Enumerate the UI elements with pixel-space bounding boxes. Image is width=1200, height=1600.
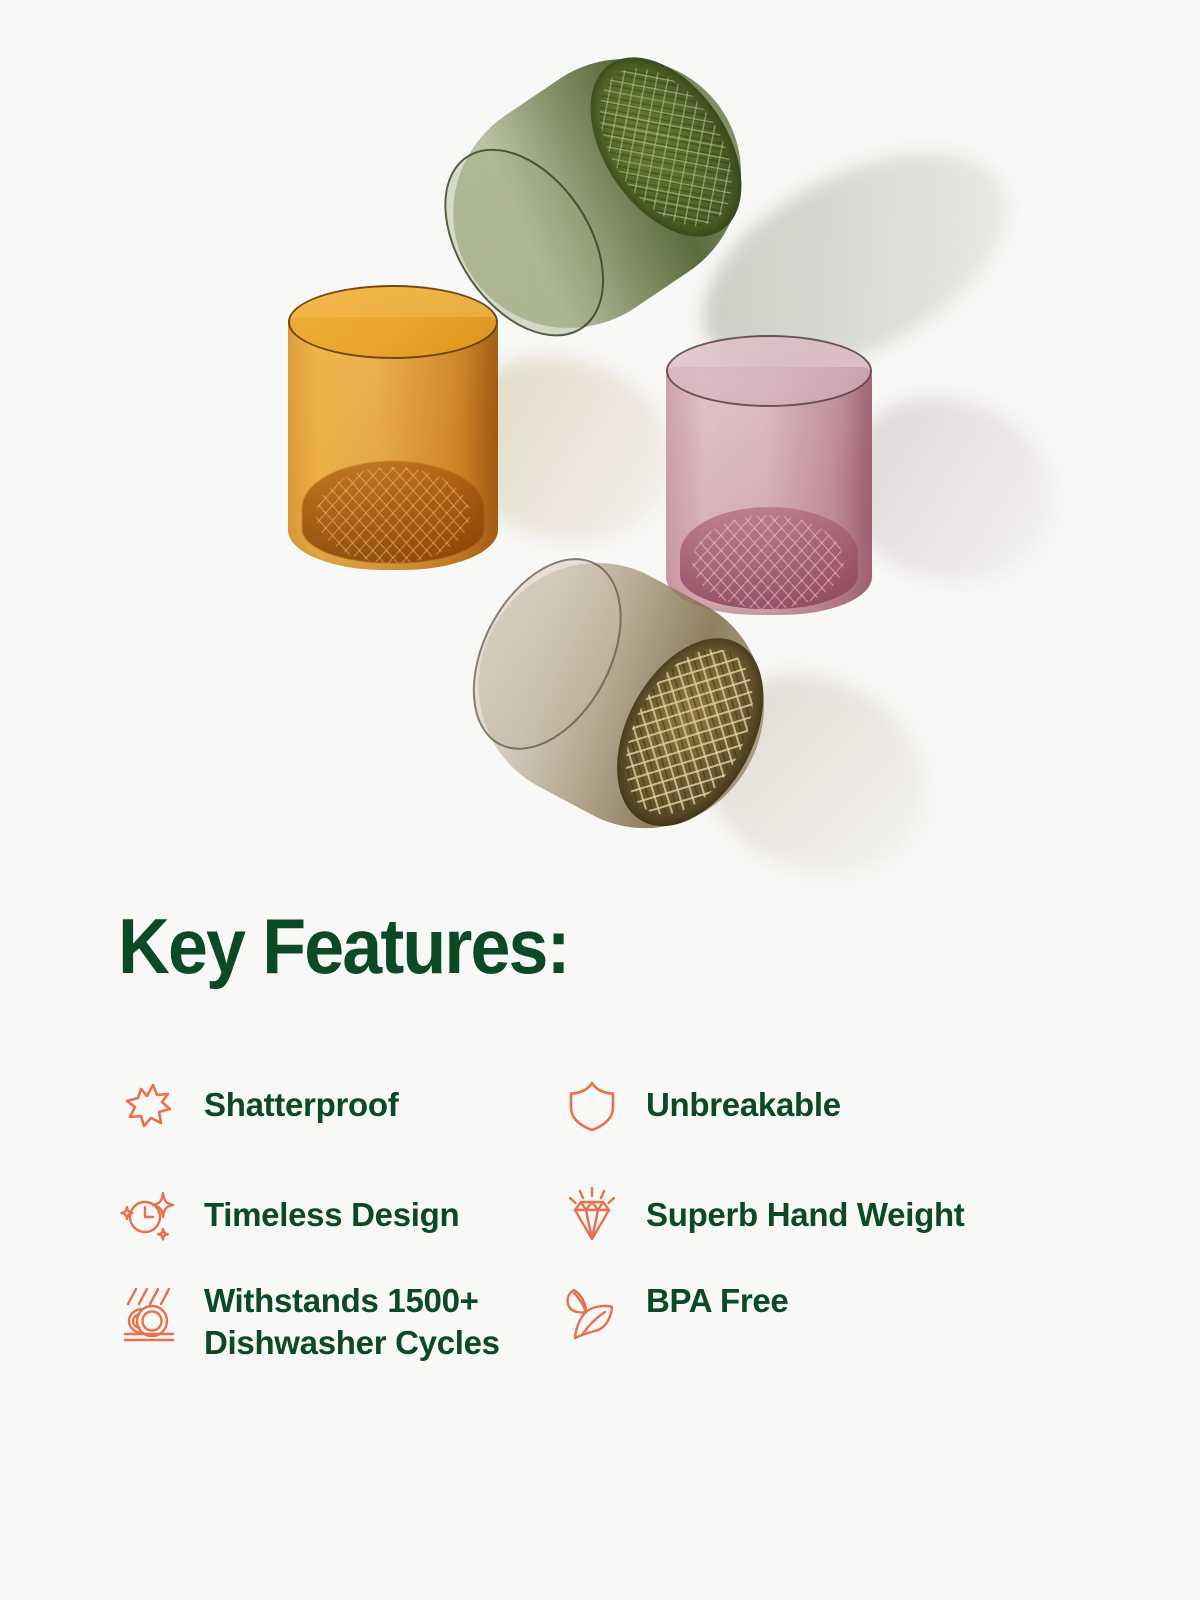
- features-grid: Shatterproof Unbreakable: [0, 1050, 1200, 1410]
- feature-row: Withstands 1500+ Dishwasher Cycles BPA F…: [0, 1270, 1200, 1410]
- feature-label: Unbreakable: [646, 1084, 841, 1126]
- feature-label: Superb Hand Weight: [646, 1194, 965, 1236]
- feature-row: Shatterproof Unbreakable: [0, 1050, 1200, 1160]
- pink-tumbler-rim: [666, 335, 872, 407]
- amber-tumbler-rim: [288, 285, 498, 359]
- clock-sparkle-icon: [118, 1183, 182, 1247]
- burst-icon: [118, 1073, 182, 1137]
- shield-icon: [560, 1073, 624, 1137]
- feature-label: Withstands 1500+ Dishwasher Cycles: [204, 1280, 500, 1363]
- feature-label: Timeless Design: [204, 1194, 459, 1236]
- feature-item-bpa-free: BPA Free: [545, 1270, 1100, 1346]
- pink-tumbler: [666, 335, 872, 615]
- diamond-icon: [560, 1183, 624, 1247]
- feature-item-unbreakable: Unbreakable: [545, 1050, 1100, 1160]
- feature-label: Shatterproof: [204, 1084, 398, 1126]
- dishwasher-icon: [118, 1282, 182, 1346]
- feature-row: Timeless Design Supe: [0, 1160, 1200, 1270]
- feature-label: BPA Free: [646, 1280, 788, 1322]
- amber-tumbler: [288, 285, 498, 570]
- page-title: Key Features:: [118, 907, 569, 985]
- leaf-icon: [560, 1282, 624, 1346]
- key-features-section: Key Features: Shatterproof Unbreakable: [0, 885, 1200, 1600]
- product-photo: [0, 0, 1200, 900]
- feature-item-shatterproof: Shatterproof: [0, 1050, 545, 1160]
- feature-item-dishwasher-cycles: Withstands 1500+ Dishwasher Cycles: [0, 1270, 545, 1363]
- feature-item-timeless-design: Timeless Design: [0, 1160, 545, 1270]
- amber-tumbler-quilt-pattern: [316, 467, 470, 563]
- feature-item-superb-hand-weight: Superb Hand Weight: [545, 1160, 1100, 1270]
- pink-tumbler-quilt-pattern: [692, 515, 844, 609]
